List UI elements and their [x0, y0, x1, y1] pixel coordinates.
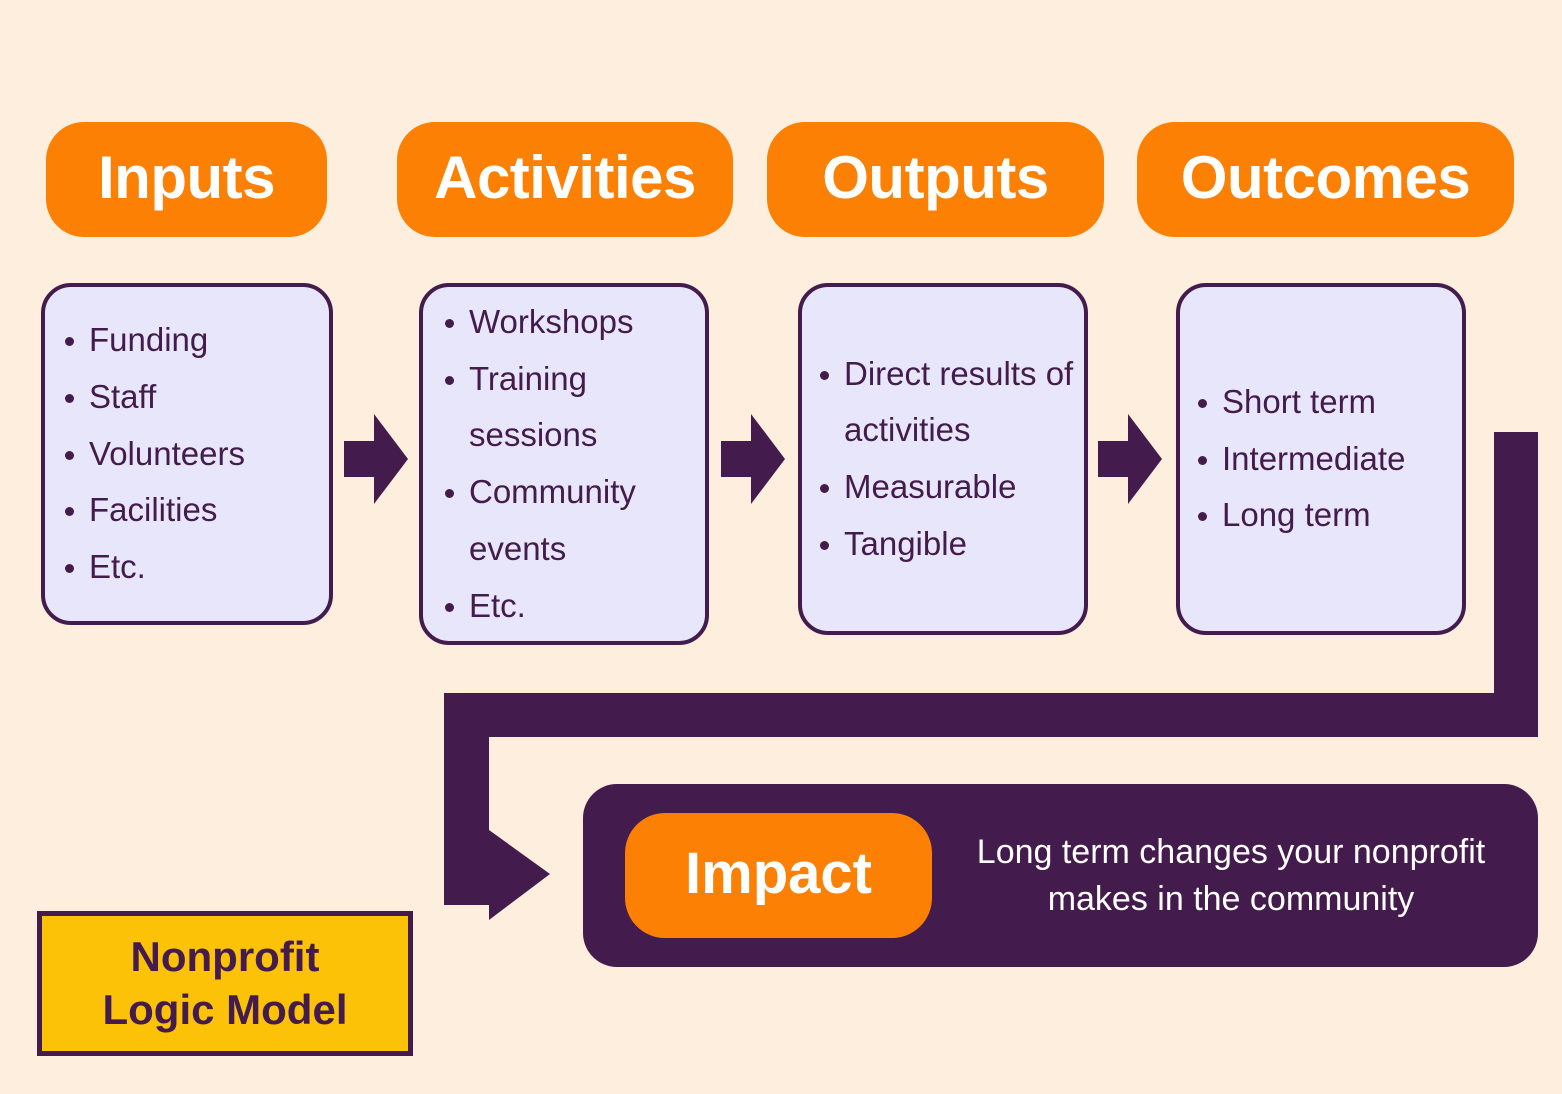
- list-item: Long term: [1222, 487, 1452, 544]
- column-header-outputs[interactable]: Outputs: [767, 122, 1104, 237]
- column-header-activities[interactable]: Activities: [397, 122, 733, 237]
- column-header-label: Outputs: [822, 148, 1048, 208]
- logic-model-diagram: Inputs Funding Staff Volunteers Faciliti…: [0, 0, 1562, 1094]
- column-header-label: Outcomes: [1181, 148, 1470, 208]
- card-activities: Workshops Training sessions Community ev…: [419, 283, 709, 645]
- list-item: Short term: [1222, 374, 1452, 431]
- card-outcomes: Short term Intermediate Long term: [1176, 283, 1466, 635]
- column-header-label: Inputs: [98, 148, 275, 208]
- activities-list: Workshops Training sessions Community ev…: [423, 294, 705, 635]
- arrow-right-icon: [721, 414, 785, 504]
- list-item: Community events: [469, 464, 695, 578]
- column-header-inputs[interactable]: Inputs: [46, 122, 327, 237]
- impact-label: Impact: [685, 845, 872, 903]
- diagram-title: Nonprofit Logic Model: [37, 911, 413, 1056]
- list-item: Training sessions: [469, 351, 695, 465]
- list-item: Measurable: [844, 459, 1074, 516]
- list-item: Facilities: [89, 482, 319, 539]
- outputs-list: Direct results of activities Measurable …: [802, 346, 1084, 573]
- list-item: Direct results of activities: [844, 346, 1074, 460]
- title-line-1: Nonprofit: [131, 931, 320, 984]
- arrow-right-icon: [1098, 414, 1162, 504]
- arrow-right-icon: [344, 414, 408, 504]
- list-item: Workshops: [469, 294, 695, 351]
- column-header-outcomes[interactable]: Outcomes: [1137, 122, 1514, 237]
- impact-bar: Impact Long term changes your nonprofit …: [583, 784, 1538, 967]
- impact-pill[interactable]: Impact: [625, 813, 932, 938]
- list-item: Etc.: [469, 578, 695, 635]
- inputs-list: Funding Staff Volunteers Facilities Etc.: [45, 312, 329, 596]
- list-item: Tangible: [844, 516, 1074, 573]
- title-line-2: Logic Model: [103, 984, 348, 1037]
- list-item: Etc.: [89, 539, 319, 596]
- card-outputs: Direct results of activities Measurable …: [798, 283, 1088, 635]
- column-header-label: Activities: [434, 148, 696, 208]
- card-inputs: Funding Staff Volunteers Facilities Etc.: [41, 283, 333, 625]
- impact-description: Long term changes your nonprofit makes i…: [932, 829, 1538, 921]
- list-item: Funding: [89, 312, 319, 369]
- list-item: Intermediate: [1222, 431, 1452, 488]
- list-item: Volunteers: [89, 426, 319, 483]
- outcomes-list: Short term Intermediate Long term: [1180, 374, 1462, 544]
- list-item: Staff: [89, 369, 319, 426]
